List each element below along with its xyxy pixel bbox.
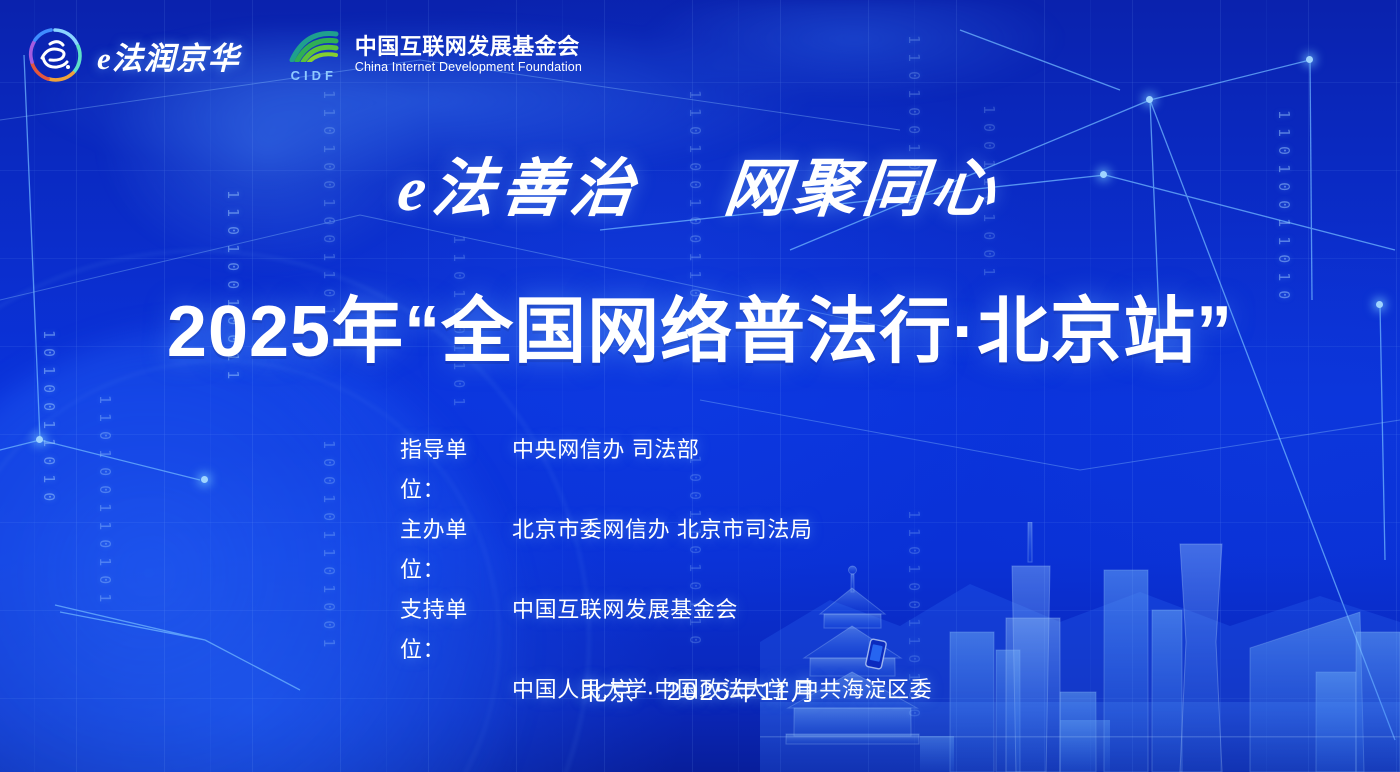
cidf-name-cn: 中国互联网发展基金会 xyxy=(355,35,582,60)
skyline-reflection xyxy=(760,702,1400,772)
calligraphy-slogan: e法善治 网聚同心 xyxy=(0,138,1400,229)
org-label: 主办单位： xyxy=(400,510,512,590)
org-label: 指导单位： xyxy=(400,430,512,510)
network-node xyxy=(1146,96,1153,103)
org-label: 支持单位： xyxy=(400,590,512,670)
network-node xyxy=(1306,56,1313,63)
header-logos: e法润京华 CIDF 中国互联网发展基金会 China Internet Dev… xyxy=(26,26,582,84)
org-value: 北京市委网信办 北京市司法局 xyxy=(512,510,1000,550)
event-location-date: 北京 · 2025年11月 xyxy=(0,672,1400,708)
org-value: 中央网信办 司法部 xyxy=(512,430,1000,470)
logo-cidf: CIDF 中国互联网发展基金会 China Internet Developme… xyxy=(286,28,582,83)
organizations-block: 指导单位： 中央网信办 司法部 主办单位： 北京市委网信办 北京市司法局 支持单… xyxy=(0,430,1400,710)
org-value: 中国互联网发展基金会 xyxy=(512,590,1000,630)
page-title: 2025年“全国网络普法行·北京站” xyxy=(0,296,1400,368)
poster-canvas: 1010011010 110100110101 11010010011 1101… xyxy=(0,0,1400,772)
calligraphy-left: e法善治 xyxy=(395,154,643,224)
logo-efa-label: e法润京华 xyxy=(97,33,240,78)
e-ring-icon xyxy=(26,26,84,84)
cidf-abbr: CIDF xyxy=(286,68,342,83)
org-row: 指导单位： 中央网信办 司法部 xyxy=(400,430,1000,510)
calligraphy-right: 网聚同心 xyxy=(721,154,1004,224)
org-row: 支持单位： 中国互联网发展基金会 xyxy=(400,590,1000,670)
logo-efa-run-jinghua: e法润京华 xyxy=(26,26,240,84)
org-row: 主办单位： 北京市委网信办 北京市司法局 xyxy=(400,510,1000,590)
cidf-name-en: China Internet Development Foundation xyxy=(355,60,582,76)
cidf-wave-icon xyxy=(286,28,342,62)
